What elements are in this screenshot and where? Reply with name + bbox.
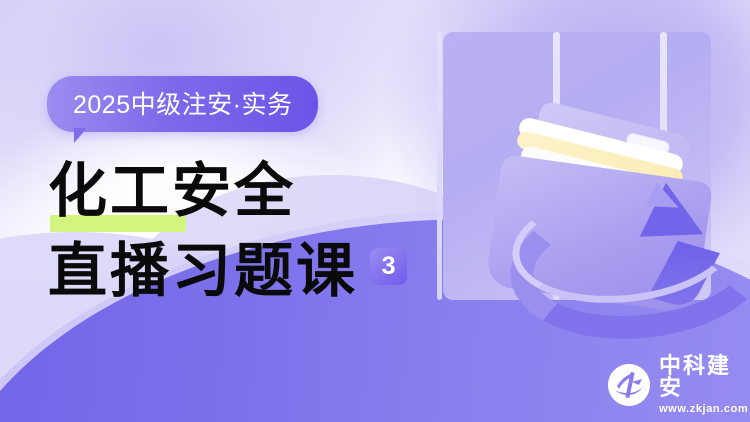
title-line-primary-text: 化工安全 <box>48 156 296 225</box>
title-block: 化工安全 直播习题课 3 <box>48 160 468 302</box>
title-line-secondary: 直播习题课 3 <box>48 240 468 302</box>
logo-text-block: 中科建安 www.zkjan.com <box>659 355 750 415</box>
badge-tail <box>74 128 87 143</box>
zkjan-emblem-icon <box>608 364 650 406</box>
title-line-primary: 化工安全 <box>48 160 468 222</box>
circular-arrow-icon <box>510 192 725 310</box>
logo-website-url: www.zkjan.com <box>659 404 750 415</box>
episode-number-badge: 3 <box>370 248 407 285</box>
course-promo-banner: 2025中级注安·实务 化工安全 直播习题课 3 中科建安 www.zkjan.… <box>0 0 750 422</box>
logo-brand-name: 中科建安 <box>659 355 750 399</box>
course-category-badge: 2025中级注安·实务 <box>47 76 318 132</box>
brand-logo: 中科建安 www.zkjan.com <box>608 355 750 415</box>
title-line-secondary-text: 直播习题课 <box>48 240 358 302</box>
